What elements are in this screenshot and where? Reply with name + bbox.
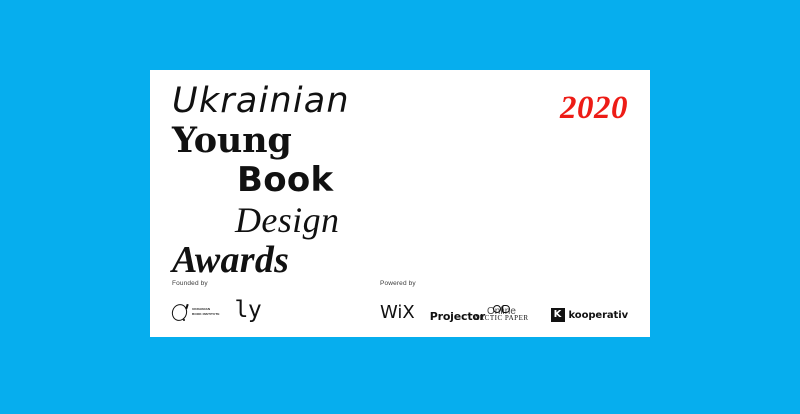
arctic-paper-wordmark: ARCTIC PAPER bbox=[474, 315, 529, 322]
poster-year: 2020 bbox=[560, 90, 628, 127]
powered-by-label: Powered by bbox=[380, 280, 516, 287]
poster-title-block: Ukrainian Young Book Design Awards bbox=[172, 84, 572, 279]
kooperativ-wordmark: kooperativ bbox=[569, 310, 628, 321]
founded-by-label: Founded by bbox=[172, 280, 261, 287]
arctic-paper-logo[interactable]: ARCTIC PAPER bbox=[474, 305, 529, 322]
kooperativ-k-icon: K bbox=[551, 308, 565, 322]
partners-logo-row: ARCTIC PAPER K kooperativ bbox=[474, 296, 628, 322]
kooperativ-logo[interactable]: K kooperativ bbox=[551, 308, 628, 322]
poster-card: Ukrainian Young Book Design Awards 2020 … bbox=[150, 70, 650, 337]
oberig-word-line-2: BOOK INSTITUTE bbox=[192, 313, 220, 316]
title-line-ukrainian: Ukrainian bbox=[172, 84, 572, 119]
arctic-paper-mark-icon bbox=[493, 305, 510, 313]
wix-logo[interactable]: WiX bbox=[380, 304, 415, 322]
oberig-logo[interactable]: UKRAINIAN BOOK INSTITUTE bbox=[172, 303, 220, 322]
sponsor-strip: Founded by UKRAINIAN BOOK INSTITUTE bbox=[150, 266, 650, 322]
founded-logo-row: UKRAINIAN BOOK INSTITUTE ly bbox=[172, 296, 261, 322]
title-line-book: Book bbox=[237, 163, 572, 197]
circle-o-mark-icon bbox=[172, 303, 189, 322]
poster-canvas: Ukrainian Young Book Design Awards 2020 … bbox=[0, 0, 800, 414]
oberig-wordmark: UKRAINIAN BOOK INSTITUTE bbox=[192, 308, 220, 317]
oberig-word-line-1: UKRAINIAN bbox=[192, 308, 220, 311]
ly-logo[interactable]: ly bbox=[235, 299, 262, 322]
title-line-young: Young bbox=[172, 123, 572, 158]
sponsor-group-partners: ARCTIC PAPER K kooperativ bbox=[474, 296, 628, 322]
sponsor-group-founded: Founded by UKRAINIAN BOOK INSTITUTE bbox=[172, 280, 261, 322]
title-line-design: Design bbox=[235, 202, 572, 238]
